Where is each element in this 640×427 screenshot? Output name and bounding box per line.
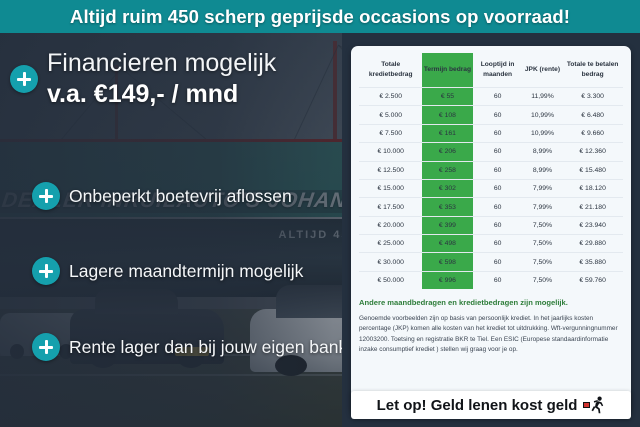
table-cell: € 598 [422,253,472,271]
table-cell: € 108 [422,106,472,124]
table-cell: € 35.880 [562,253,623,271]
table-header-row: Totale kredietbedragTermijn bedragLoopti… [359,53,623,88]
table-cell: € 7.500 [359,124,422,142]
afm-red-bar [583,402,590,408]
table-cell: € 2.500 [359,88,422,106]
table-cell: 60 [473,143,523,161]
table-cell: € 23.940 [562,216,623,234]
headline-line-2: v.a. €149,- / mnd [47,79,276,109]
table-cell: € 55 [422,88,472,106]
feature-headline: Financieren mogelijk v.a. €149,- / mnd [10,49,276,109]
table-cell: € 25.000 [359,235,422,253]
table-cell: 8,99% [523,143,563,161]
plus-icon [32,257,60,285]
feature-item-3: Rente lager dan bij jouw eigen bank [32,333,347,361]
table-cell: 60 [473,216,523,234]
table-row: € 20.000€ 399607,50%€ 23.940 [359,216,623,234]
afm-running-man-icon [583,396,605,414]
table-cell: € 10.000 [359,143,422,161]
table-cell: € 161 [422,124,472,142]
table-cell: € 3.300 [562,88,623,106]
table-cell: € 59.760 [562,271,623,289]
table-cell: € 9.660 [562,124,623,142]
table-cell: € 258 [422,161,472,179]
table-cell: € 6.480 [562,106,623,124]
table-cell: € 498 [422,235,472,253]
table-row: € 5.000€ 1086010,99%€ 6.480 [359,106,623,124]
table-cell: € 302 [422,179,472,197]
table-cell: 60 [473,235,523,253]
rate-card: Totale kredietbedragTermijn bedragLoopti… [351,46,631,414]
headline-line-1: Financieren mogelijk [47,49,276,77]
table-column-header: Totale kredietbedrag [359,53,422,88]
table-cell: € 17.500 [359,198,422,216]
financing-rate-table: Totale kredietbedragTermijn bedragLoopti… [359,53,623,289]
table-cell: € 15.000 [359,179,422,197]
table-row: € 10.000€ 206608,99%€ 12.360 [359,143,623,161]
loan-warning-text: Let op! Geld lenen kost geld [377,397,578,414]
table-row: € 50.000€ 996607,50%€ 59.760 [359,271,623,289]
table-column-header: Looptijd in maanden [473,53,523,88]
table-column-header: Termijn bedrag [422,53,472,88]
table-cell: 7,50% [523,253,563,271]
table-row: € 17.500€ 353607,99%€ 21.180 [359,198,623,216]
table-cell: € 12.500 [359,161,422,179]
feature-item-label: Lagere maandtermijn mogelijk [69,261,303,282]
table-cell: 60 [473,124,523,142]
table-cell: 60 [473,253,523,271]
table-cell: € 29.880 [562,235,623,253]
table-column-header: Totale te betalen bedrag [562,53,623,88]
table-cell: € 30.000 [359,253,422,271]
promo-banner-image: DEALER INRUILAUTO'S JOHAN MEURE ALTIJD 4… [0,0,640,427]
table-cell: € 20.000 [359,216,422,234]
table-cell: 60 [473,88,523,106]
top-banner-text: Altijd ruim 450 scherp geprijsde occasio… [70,6,570,28]
feature-item-label: Rente lager dan bij jouw eigen bank [69,337,347,358]
plus-icon [32,182,60,210]
loan-warning-bar: Let op! Geld lenen kost geld [351,391,631,419]
table-cell: € 12.360 [562,143,623,161]
rate-panel: Totale kredietbedragTermijn bedragLoopti… [342,33,640,427]
feature-item-2: Lagere maandtermijn mogelijk [32,257,303,285]
table-row: € 30.000€ 598607,50%€ 35.880 [359,253,623,271]
top-banner: Altijd ruim 450 scherp geprijsde occasio… [0,0,640,33]
table-cell: € 21.180 [562,198,623,216]
table-body: € 2.500€ 556011,99%€ 3.300€ 5.000€ 10860… [359,88,623,290]
table-cell: 8,99% [523,161,563,179]
table-cell: 11,99% [523,88,563,106]
table-cell: 60 [473,179,523,197]
table-cell: € 50.000 [359,271,422,289]
feature-item-1: Onbeperkt boetevrij aflossen [32,182,292,210]
table-row: € 7.500€ 1616010,99%€ 9.660 [359,124,623,142]
table-cell: 7,50% [523,235,563,253]
table-cell: € 18.120 [562,179,623,197]
table-cell: 10,99% [523,106,563,124]
table-cell: 60 [473,106,523,124]
table-row: € 25.000€ 498607,50%€ 29.880 [359,235,623,253]
table-cell: 60 [473,161,523,179]
plus-icon [32,333,60,361]
table-cell: € 5.000 [359,106,422,124]
table-header: Totale kredietbedragTermijn bedragLoopti… [359,53,623,88]
table-cell: 7,50% [523,216,563,234]
table-cell: € 15.480 [562,161,623,179]
table-cell: € 399 [422,216,472,234]
table-cell: 60 [473,198,523,216]
table-cell: € 996 [422,271,472,289]
table-cell: 7,50% [523,271,563,289]
table-row: € 12.500€ 258608,99%€ 15.480 [359,161,623,179]
table-row: € 15.000€ 302607,99%€ 18.120 [359,179,623,197]
plus-icon [10,65,38,93]
table-cell: € 353 [422,198,472,216]
table-cell: € 206 [422,143,472,161]
table-cell: 7,99% [523,198,563,216]
table-cell: 10,99% [523,124,563,142]
table-row: € 2.500€ 556011,99%€ 3.300 [359,88,623,106]
disclaimer-body: Genoemde voorbeelden zijn op basis van p… [359,314,623,356]
feature-list: Financieren mogelijk v.a. €149,- / mnd O… [0,33,345,427]
running-man-glyph [591,396,605,414]
table-column-header: JPK (rente) [523,53,563,88]
table-cell: 60 [473,271,523,289]
feature-item-label: Onbeperkt boetevrij aflossen [69,186,292,207]
table-cell: 7,99% [523,179,563,197]
disclaimer-title: Andere maandbedragen en kredietbedragen … [359,298,623,309]
